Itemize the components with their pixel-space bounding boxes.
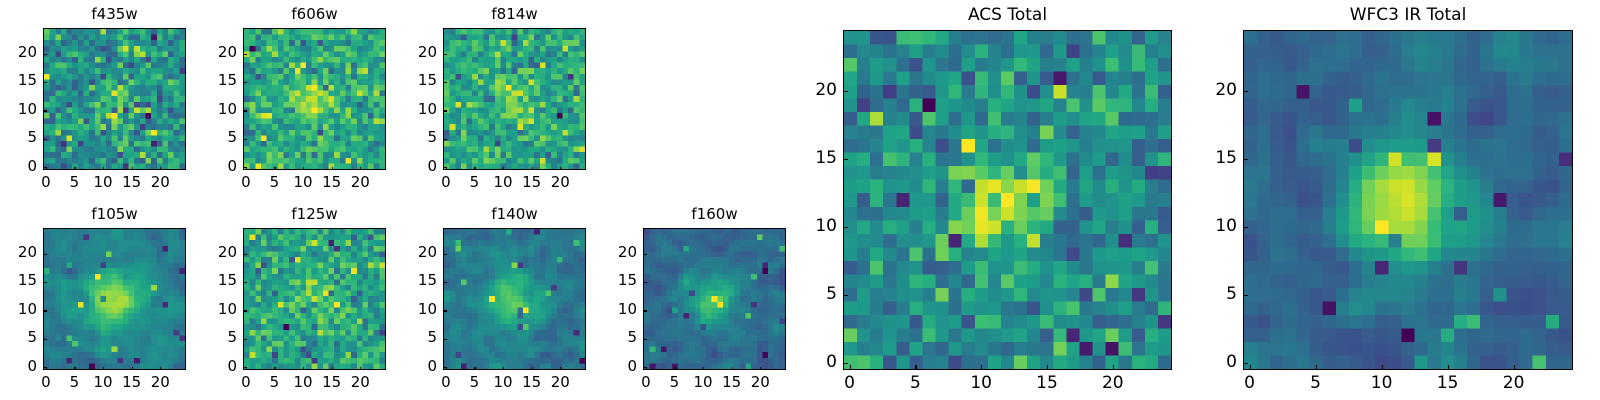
panel-title-f435w: f435w <box>43 6 186 23</box>
y-tick-label: 5 <box>197 129 237 146</box>
y-tick-label: 5 <box>0 129 37 146</box>
y-tick-label: 5 <box>397 129 437 146</box>
y-tick-mark <box>1243 159 1248 160</box>
x-tick-mark <box>103 367 104 371</box>
y-tick-label: 5 <box>597 329 637 346</box>
y-tick-mark <box>43 254 47 255</box>
heatmap-image-f140w <box>443 228 586 370</box>
y-tick-label: 10 <box>797 217 837 236</box>
y-tick-label: 20 <box>0 244 37 261</box>
x-tick-mark <box>1250 365 1251 370</box>
x-tick-mark <box>503 367 504 371</box>
x-tick-label: 10 <box>1362 374 1402 393</box>
y-tick-mark <box>843 91 848 92</box>
heatmap-image-f606w <box>243 28 386 170</box>
x-tick-mark <box>360 167 361 171</box>
x-tick-mark <box>981 365 982 370</box>
y-tick-label: 20 <box>0 44 37 61</box>
y-tick-mark <box>243 54 247 55</box>
y-tick-label: 20 <box>797 81 837 100</box>
heatmap-image-f160w <box>643 228 786 370</box>
y-tick-label: 5 <box>1197 285 1237 304</box>
y-tick-label: 0 <box>197 358 237 375</box>
x-tick-mark <box>103 167 104 171</box>
x-tick-mark <box>532 167 533 171</box>
y-tick-label: 0 <box>197 158 237 175</box>
x-tick-label: 0 <box>830 374 870 393</box>
x-tick-mark <box>1047 365 1048 370</box>
y-tick-label: 10 <box>397 301 437 318</box>
y-tick-mark <box>443 367 447 368</box>
x-tick-mark <box>850 365 851 370</box>
y-tick-mark <box>643 310 647 311</box>
y-tick-label: 20 <box>197 44 237 61</box>
x-tick-label: 20 <box>140 374 180 391</box>
x-tick-mark <box>274 167 275 171</box>
y-tick-mark <box>243 82 247 83</box>
y-tick-label: 15 <box>0 72 37 89</box>
panel-title-f105w: f105w <box>43 206 186 223</box>
y-tick-mark <box>1243 227 1248 228</box>
y-tick-label: 15 <box>397 72 437 89</box>
y-tick-mark <box>43 282 47 283</box>
heatmap-image-f105w <box>43 228 186 370</box>
x-tick-label: 5 <box>1296 374 1336 393</box>
x-tick-mark <box>474 367 475 371</box>
y-tick-label: 15 <box>197 72 237 89</box>
x-tick-label: 10 <box>961 374 1001 393</box>
x-tick-label: 5 <box>895 374 935 393</box>
y-tick-mark <box>243 282 247 283</box>
x-tick-mark <box>1448 365 1449 370</box>
x-tick-mark <box>132 167 133 171</box>
x-tick-mark <box>503 167 504 171</box>
y-tick-label: 10 <box>397 101 437 118</box>
x-tick-mark <box>560 367 561 371</box>
x-tick-mark <box>132 367 133 371</box>
y-tick-label: 10 <box>597 301 637 318</box>
y-tick-label: 15 <box>397 272 437 289</box>
y-tick-mark <box>43 110 47 111</box>
y-tick-mark <box>443 310 447 311</box>
panel-title-f814w: f814w <box>443 6 586 23</box>
x-tick-mark <box>1514 365 1515 370</box>
y-tick-mark <box>643 282 647 283</box>
x-tick-label: 20 <box>1494 374 1534 393</box>
heatmap-image-wfc3-ir-total <box>1243 30 1573 370</box>
y-tick-label: 20 <box>397 244 437 261</box>
y-tick-label: 5 <box>797 285 837 304</box>
y-tick-label: 20 <box>197 244 237 261</box>
y-tick-label: 5 <box>0 329 37 346</box>
x-tick-mark <box>915 365 916 370</box>
x-tick-mark <box>703 367 704 371</box>
heatmap-image-acs-total <box>843 30 1172 370</box>
y-tick-label: 15 <box>797 149 837 168</box>
x-tick-mark <box>1382 365 1383 370</box>
y-tick-label: 20 <box>397 44 437 61</box>
y-tick-mark <box>43 167 47 168</box>
x-tick-mark <box>760 367 761 371</box>
y-tick-mark <box>643 339 647 340</box>
y-tick-mark <box>43 82 47 83</box>
y-tick-label: 10 <box>1197 217 1237 236</box>
x-tick-mark <box>74 367 75 371</box>
y-tick-mark <box>243 339 247 340</box>
x-tick-mark <box>732 367 733 371</box>
y-tick-label: 10 <box>197 301 237 318</box>
x-tick-label: 20 <box>740 374 780 391</box>
y-tick-label: 10 <box>197 101 237 118</box>
x-tick-mark <box>160 367 161 371</box>
y-tick-mark <box>43 367 47 368</box>
y-tick-label: 0 <box>0 158 37 175</box>
panel-title-f160w: f160w <box>643 206 786 223</box>
panel-title-f125w: f125w <box>243 206 386 223</box>
y-tick-label: 15 <box>197 272 237 289</box>
x-tick-mark <box>1113 365 1114 370</box>
y-tick-mark <box>243 254 247 255</box>
y-tick-mark <box>1243 363 1248 364</box>
y-tick-label: 5 <box>197 329 237 346</box>
x-tick-mark <box>274 367 275 371</box>
y-tick-label: 5 <box>397 329 437 346</box>
x-tick-mark <box>1316 365 1317 370</box>
y-tick-label: 15 <box>1197 149 1237 168</box>
y-tick-mark <box>1243 295 1248 296</box>
x-tick-label: 0 <box>1230 374 1270 393</box>
y-tick-mark <box>843 227 848 228</box>
y-tick-label: 0 <box>797 353 837 372</box>
y-tick-mark <box>443 139 447 140</box>
x-tick-mark <box>160 167 161 171</box>
y-tick-label: 0 <box>0 358 37 375</box>
panel-title-f606w: f606w <box>243 6 386 23</box>
x-tick-mark <box>360 367 361 371</box>
y-tick-mark <box>443 54 447 55</box>
y-tick-mark <box>843 295 848 296</box>
y-tick-mark <box>643 367 647 368</box>
x-tick-mark <box>303 167 304 171</box>
y-tick-mark <box>843 159 848 160</box>
y-tick-mark <box>443 82 447 83</box>
x-tick-mark <box>332 367 333 371</box>
x-tick-mark <box>332 167 333 171</box>
y-tick-mark <box>43 339 47 340</box>
x-tick-label: 15 <box>1027 374 1067 393</box>
x-tick-label: 20 <box>340 374 380 391</box>
y-tick-mark <box>243 310 247 311</box>
x-tick-mark <box>532 367 533 371</box>
y-tick-mark <box>243 139 247 140</box>
y-tick-label: 0 <box>397 358 437 375</box>
y-tick-mark <box>843 363 848 364</box>
y-tick-mark <box>243 110 247 111</box>
y-tick-mark <box>1243 91 1248 92</box>
y-tick-mark <box>43 139 47 140</box>
x-tick-label: 20 <box>540 374 580 391</box>
y-tick-label: 20 <box>1197 81 1237 100</box>
y-tick-mark <box>43 54 47 55</box>
y-tick-mark <box>443 110 447 111</box>
y-tick-label: 15 <box>0 272 37 289</box>
x-tick-mark <box>74 167 75 171</box>
x-tick-label: 20 <box>140 174 180 191</box>
y-tick-label: 0 <box>397 158 437 175</box>
x-tick-mark <box>674 367 675 371</box>
y-tick-mark <box>443 167 447 168</box>
heatmap-image-f125w <box>243 228 386 370</box>
y-tick-label: 15 <box>597 272 637 289</box>
heatmap-image-f814w <box>443 28 586 170</box>
y-tick-label: 0 <box>597 358 637 375</box>
y-tick-label: 20 <box>597 244 637 261</box>
y-tick-mark <box>443 254 447 255</box>
y-tick-label: 10 <box>0 101 37 118</box>
y-tick-mark <box>243 167 247 168</box>
x-tick-label: 15 <box>1428 374 1468 393</box>
x-tick-mark <box>560 167 561 171</box>
y-tick-label: 10 <box>0 301 37 318</box>
heatmap-image-f435w <box>43 28 186 170</box>
y-tick-mark <box>243 367 247 368</box>
panel-title-acs-total: ACS Total <box>843 6 1172 25</box>
y-tick-label: 0 <box>1197 353 1237 372</box>
y-tick-mark <box>643 254 647 255</box>
panel-title-wfc3-ir-total: WFC3 IR Total <box>1243 6 1573 25</box>
x-tick-label: 20 <box>540 174 580 191</box>
x-tick-mark <box>303 367 304 371</box>
panel-title-f140w: f140w <box>443 206 586 223</box>
y-tick-mark <box>443 282 447 283</box>
x-tick-label: 20 <box>1093 374 1133 393</box>
y-tick-mark <box>443 339 447 340</box>
x-tick-label: 20 <box>340 174 380 191</box>
y-tick-mark <box>43 310 47 311</box>
x-tick-mark <box>474 167 475 171</box>
